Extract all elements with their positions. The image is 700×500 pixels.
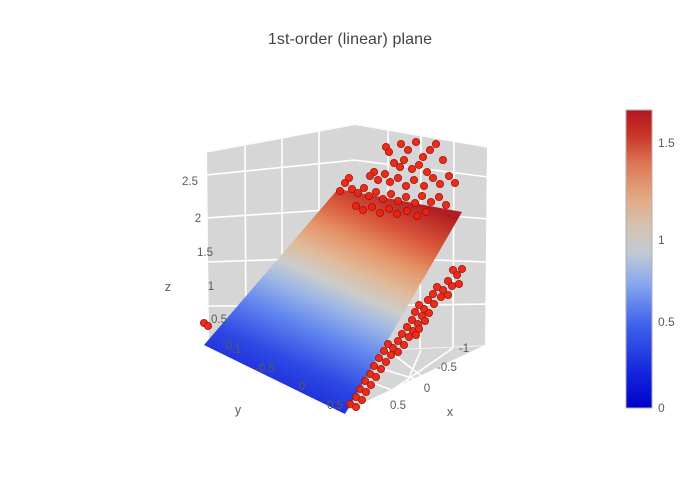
colorbar-tick-0p5: 0.5 [658, 315, 675, 329]
colorbar[interactable] [0, 0, 700, 500]
colorbar-gradient-bar[interactable] [626, 110, 652, 408]
colorbar-tick-1p5: 1.5 [658, 136, 675, 150]
colorbar-tick-0: 0 [658, 401, 665, 415]
colorbar-tick-1: 1 [658, 233, 665, 247]
plot-root: 1st-order (linear) plane [0, 0, 700, 500]
